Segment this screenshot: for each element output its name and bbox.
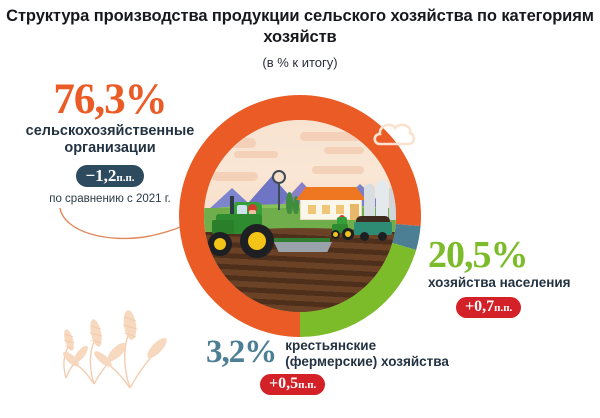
- wheel-icon: [360, 232, 369, 241]
- windmill-icon: [272, 170, 286, 184]
- wheel-hub-icon: [214, 238, 226, 250]
- household-category-label: хозяйства населения: [428, 275, 600, 291]
- farm-category-label: крестьянские (фермерские) хозяйства: [285, 336, 449, 370]
- agro-category-label: сельскохозяйственные организации: [6, 123, 214, 158]
- agro-change-value: −1,2: [85, 166, 116, 185]
- barn-window-icon: [322, 205, 330, 214]
- wheat-decoration-icon: [22, 306, 172, 406]
- callout-agricultural-organizations: 76,3% сельскохозяйственные организации −…: [6, 78, 214, 205]
- barn-window-icon: [336, 205, 344, 214]
- agro-change-badge: −1,2п.п.: [76, 165, 143, 187]
- barn-roof-icon: [296, 187, 366, 200]
- wheel-hub-icon: [248, 232, 266, 250]
- title-block: Структура производства продукции сельско…: [0, 6, 600, 70]
- farm-change-badge: +0,5п.п.: [260, 374, 325, 395]
- plow-icon: [272, 238, 330, 242]
- farm-change-value: +0,5: [269, 375, 298, 392]
- wheel-icon: [378, 232, 387, 241]
- silo-icon: [389, 186, 396, 220]
- cloud-icon: [234, 151, 278, 158]
- callout-peasant-farms: 3,2% крестьянские (фермерские) хозяйства…: [206, 336, 536, 395]
- cloud-icon: [300, 132, 362, 141]
- trailer-icon: [354, 222, 392, 235]
- cloud-outline-icon: [372, 120, 416, 150]
- farm-change-unit: п.п.: [298, 379, 316, 391]
- farm-category-label-line2: (фермерские) хозяйства: [285, 354, 449, 370]
- barn-window-icon: [308, 205, 316, 214]
- chart-subtitle: (в % к итогу): [0, 55, 600, 70]
- wheel-hub-icon: [333, 232, 338, 237]
- farm-category-label-line1: крестьянские: [285, 338, 449, 354]
- household-change-value: +0,7: [465, 298, 494, 315]
- wheel-hub-icon: [345, 231, 351, 237]
- agro-change-unit: п.п.: [116, 172, 134, 184]
- farm-percent-value: 3,2%: [206, 336, 276, 369]
- plow-blades-icon: [274, 242, 332, 252]
- cloud-icon: [324, 147, 364, 154]
- tree-icon: [286, 192, 293, 214]
- agro-percent-value: 76,3%: [6, 78, 214, 121]
- household-change-unit: п.п.: [494, 302, 512, 314]
- callout-households: 20,5% хозяйства населения +0,7п.п.: [428, 236, 600, 318]
- agro-comparison-note: по сравнению с 2021 г.: [6, 193, 214, 205]
- silo-icon: [364, 184, 375, 220]
- silo-icon: [376, 180, 388, 220]
- page-title: Структура производства продукции сельско…: [0, 6, 600, 48]
- household-percent-value: 20,5%: [428, 236, 600, 274]
- cloud-icon: [312, 166, 364, 174]
- household-change-badge: +0,7п.п.: [456, 297, 521, 318]
- farm-illustration: [204, 120, 396, 312]
